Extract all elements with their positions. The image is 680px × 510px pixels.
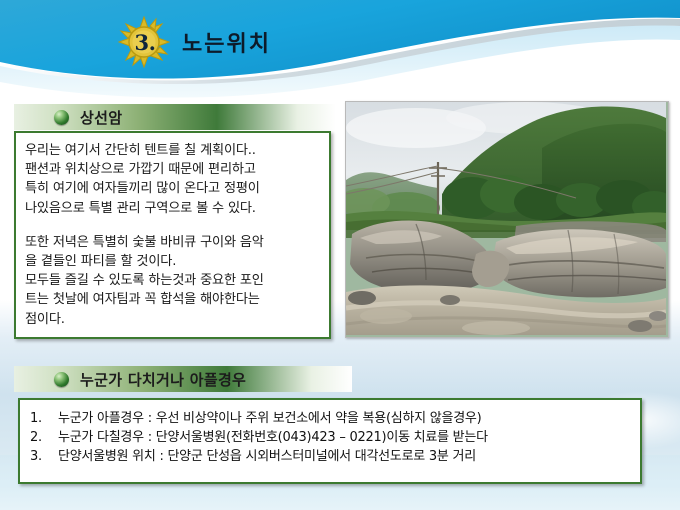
description-line: 팬션과 위치상으로 가깝기 때문에 편리하고 [25, 160, 320, 179]
list-item-text: 누군가 아플경우 : 우선 비상약이나 주위 보건소에서 약을 복용(심하지 않… [58, 411, 481, 426]
list-item: 2. 누군가 다칠경우 : 단양서울병원(전화번호(043)423 – 0221… [30, 428, 640, 447]
description-line: 우리는 여기서 간단히 텐트를 칠 계획이다.. [25, 141, 320, 160]
list-item-number: 2. [30, 428, 52, 447]
description-text: 우리는 여기서 간단히 텐트를 칠 계획이다.. 팬션과 위치상으로 가깝기 때… [16, 133, 329, 329]
list-item: 1. 누군가 아플경우 : 우선 비상약이나 주위 보건소에서 약을 복용(심하… [30, 409, 640, 428]
title-number: 3. [118, 16, 171, 68]
list-item-number: 1. [30, 409, 52, 428]
green-sphere-bullet-icon [54, 110, 69, 125]
description-line: 모두들 즐길 수 있도록 하는것과 중요한 포인 [25, 271, 320, 290]
slide: 3. 노는위치 상선암 우리는 여기서 간단히 텐트를 칠 계획이다.. 팬션과… [0, 0, 680, 510]
description-line: 나있음으로 특별 관리 구역으로 볼 수 있다. [25, 199, 320, 218]
list-item: 3. 단양서울병원 위치 : 단양군 단성읍 시외버스터미널에서 대각선도로로 … [30, 447, 640, 466]
section-header-label: 상선암 [80, 107, 122, 128]
list-item-number: 3. [30, 447, 52, 466]
description-line: 또한 저녁은 특별히 숯불 바비큐 구이와 음악 [25, 233, 320, 252]
sangseonam-rock-river-photo [345, 101, 669, 338]
section-header-sangseonam: 상선암 [14, 104, 336, 130]
green-sphere-bullet-icon [54, 372, 69, 387]
paragraph-spacer [25, 218, 320, 233]
section-header-first-aid: 누군가 다치거나 아플경우 [14, 366, 352, 392]
description-line: 점이다. [25, 310, 320, 329]
list-item-text: 누군가 다칠경우 : 단양서울병원(전화번호(043)423 – 0221)이동… [58, 430, 488, 445]
first-aid-list: 1. 누군가 아플경우 : 우선 비상약이나 주위 보건소에서 약을 복용(심하… [20, 400, 640, 466]
page-title: 3. 노는위치 [118, 14, 378, 70]
description-line: 을 곁들인 파티를 할 것이다. [25, 252, 320, 271]
description-line: 트는 첫날에 여자팀과 꼭 합석을 해야한다는 [25, 290, 320, 309]
list-item-text: 단양서울병원 위치 : 단양군 단성읍 시외버스터미널에서 대각선도로로 3분 … [58, 449, 476, 464]
sunburst-icon: 3. [118, 16, 170, 68]
first-aid-box: 1. 누군가 아플경우 : 우선 비상약이나 주위 보건소에서 약을 복용(심하… [18, 398, 642, 484]
description-box: 우리는 여기서 간단히 텐트를 칠 계획이다.. 팬션과 위치상으로 가깝기 때… [14, 131, 331, 339]
section-header-label: 누군가 다치거나 아플경우 [80, 369, 246, 390]
description-line: 특히 여기에 여자들끼리 많이 온다고 정평이 [25, 179, 320, 198]
title-label: 노는위치 [182, 26, 271, 58]
